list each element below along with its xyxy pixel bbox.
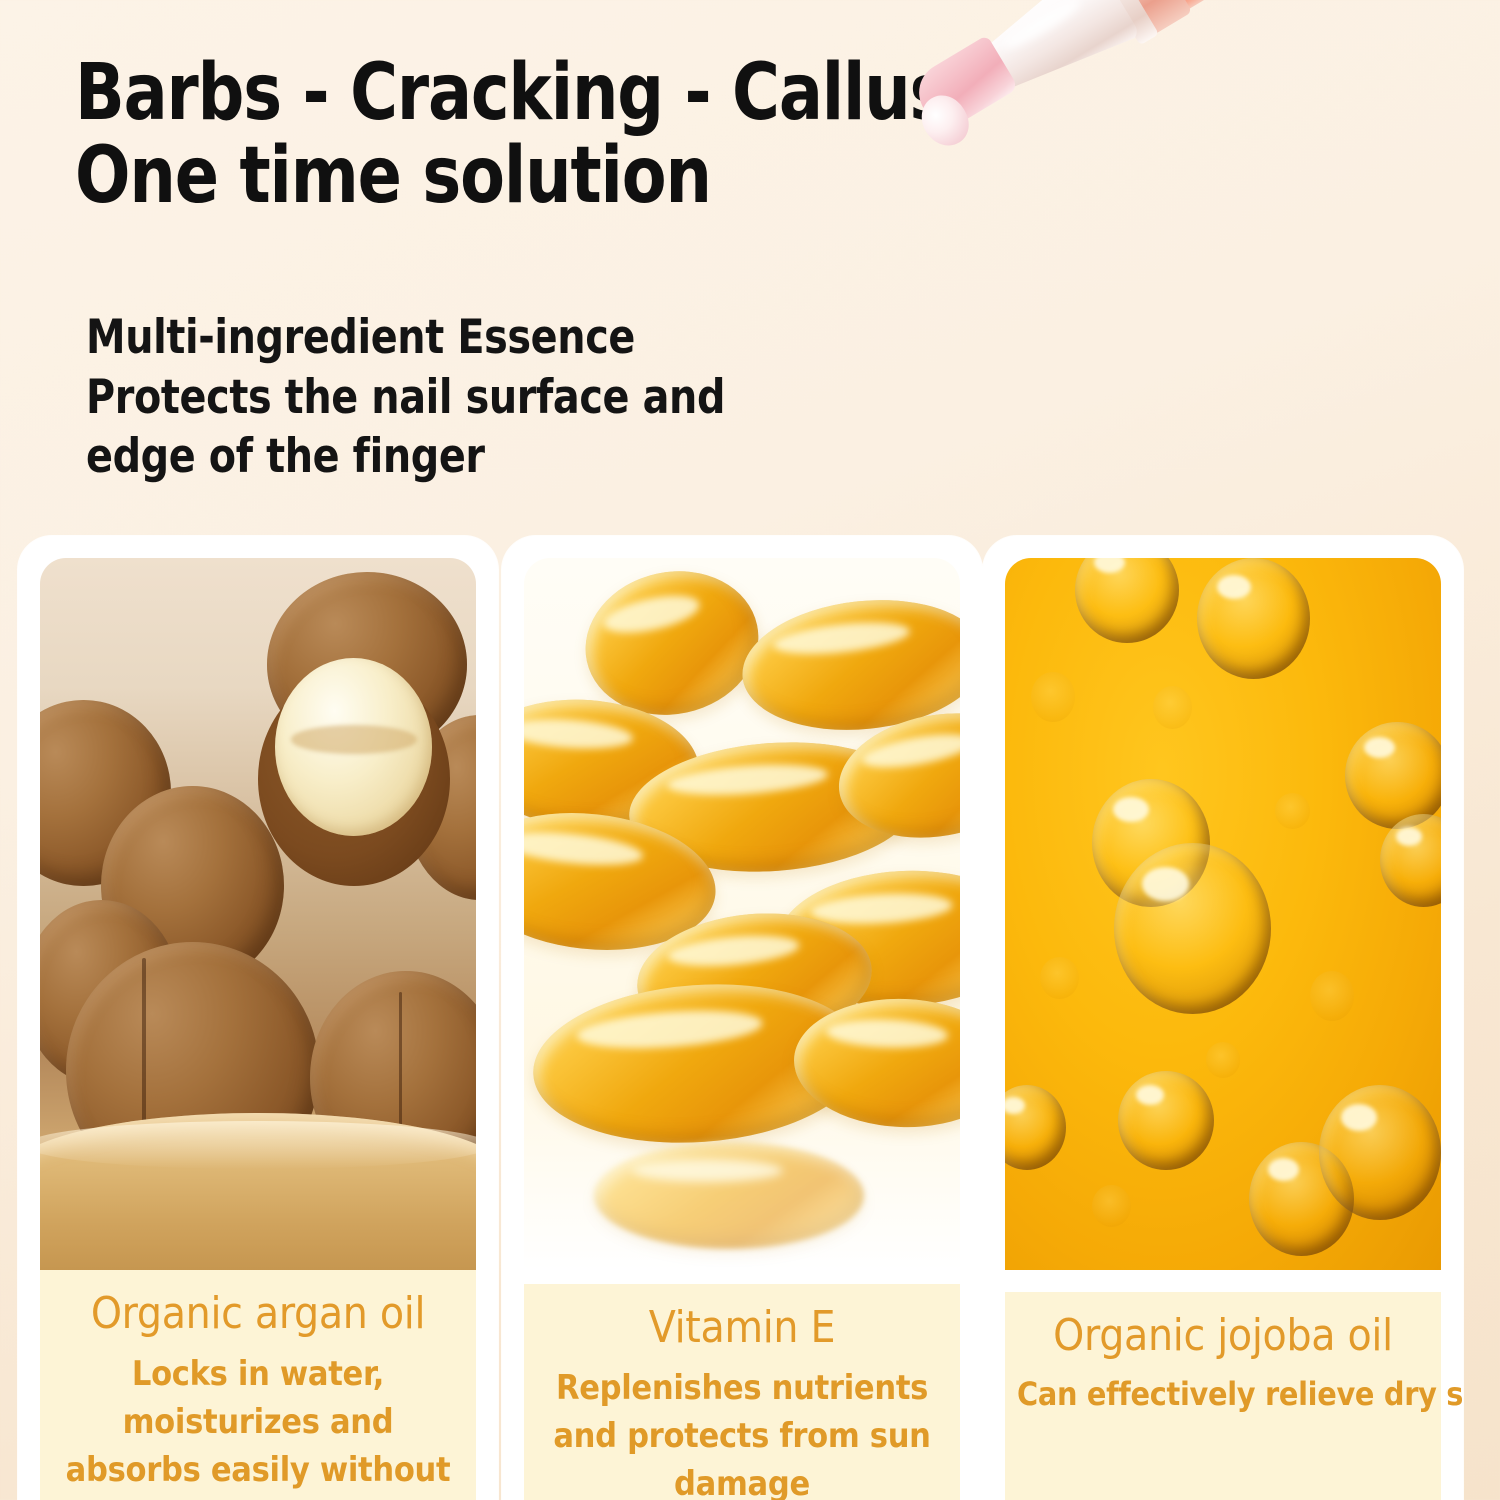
ingredient-title: Organic jojoba oil (1017, 1310, 1429, 1362)
card-caption: Organic argan oil Locks in water, moistu… (40, 1270, 476, 1500)
oil-bubble-faint (1031, 672, 1075, 722)
ingredient-description: Can effectively relieve dry skin (1017, 1372, 1429, 1417)
oil-bubble (1005, 1085, 1066, 1170)
oil-bubble (1345, 722, 1441, 829)
ingredient-card-row: Organic argan oil Locks in water, moistu… (0, 536, 1500, 1500)
photo-nuts (40, 558, 476, 1270)
ingredient-card[interactable]: Organic argan oil Locks in water, moistu… (18, 536, 498, 1500)
ingredient-title: Organic argan oil (52, 1288, 464, 1340)
nut-kernel (275, 658, 432, 836)
oil-bubble (1319, 1085, 1441, 1220)
card-image-vitamin-e-capsules (524, 558, 960, 1270)
card-caption: Vitamin E Replenishes nutrients and prot… (524, 1284, 960, 1500)
oil-bubble-faint (1153, 686, 1192, 729)
oil-bubble-faint (1310, 971, 1354, 1021)
card-image-macadamia-nuts (40, 558, 476, 1270)
oil-bubble (1114, 843, 1271, 1014)
oil-bubble-faint (1206, 1042, 1241, 1078)
subheading-line-2: Protects the nail surface and (86, 368, 819, 428)
ingredient-card[interactable]: Vitamin E Replenishes nutrients and prot… (502, 536, 982, 1500)
oil-bubble-faint (1092, 1185, 1131, 1228)
pen-assembly: pen and nourishing and vit (868, 0, 1500, 196)
oil-bubble (1197, 558, 1310, 679)
card-caption: Organic jojoba oil Can effectively relie… (1005, 1292, 1441, 1500)
ingredient-title: Vitamin E (536, 1302, 948, 1354)
subheading-block: Multi-ingredient Essence Protects the na… (86, 308, 866, 487)
ingredient-description: Locks in water, moisturizes and absorbs … (52, 1350, 464, 1500)
product-photo-nail-pen: pen and nourishing and vit (860, 0, 1500, 510)
card-image-jojoba-oil-bubbles (1005, 558, 1441, 1270)
oil-bubble-faint (1275, 793, 1310, 829)
ingredient-card[interactable]: Organic jojoba oil Can effectively relie… (983, 536, 1463, 1500)
subheading-line-1: Multi-ingredient Essence (86, 308, 819, 368)
ingredient-description: Replenishes nutrients and protects from … (536, 1364, 948, 1500)
softgel-capsule-reflection (594, 1142, 864, 1249)
oil-bubble (1075, 558, 1180, 643)
oil-bubble (1118, 1071, 1214, 1171)
oil-bubble-faint (1040, 957, 1079, 1000)
photo-oil (1005, 558, 1441, 1270)
wooden-bowl (40, 1113, 476, 1270)
photo-capsules (524, 558, 960, 1270)
subheading-line-3: edge of the finger (86, 427, 819, 487)
